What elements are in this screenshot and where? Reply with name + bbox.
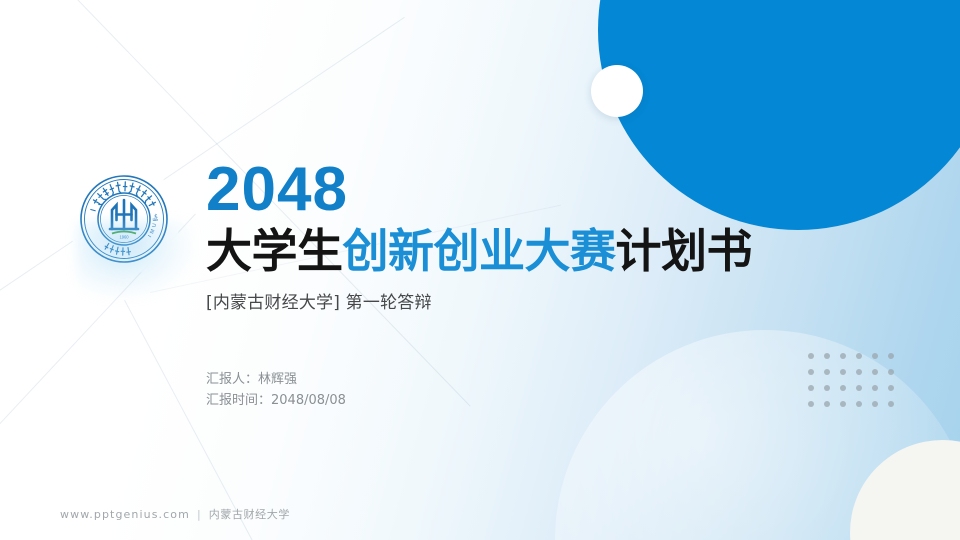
- footer: www.pptgenius.com | 内蒙古财经大学: [60, 506, 290, 522]
- year-heading: 2048: [206, 158, 886, 222]
- page-title: 大学生创新创业大赛计划书: [206, 224, 886, 278]
- grid-dot: [840, 385, 846, 391]
- svg-text:1960: 1960: [119, 235, 129, 240]
- title-part-2-highlight: 创新创业大赛: [343, 224, 616, 278]
- grid-dot: [888, 369, 894, 375]
- university-logo: 1960: [68, 163, 180, 275]
- dot-grid-decoration: [808, 353, 904, 417]
- subtitle: [内蒙古财经大学] 第一轮答辩: [206, 292, 886, 314]
- footer-organization: 内蒙古财经大学: [209, 506, 290, 522]
- grid-dot: [824, 385, 830, 391]
- grid-dot: [824, 353, 830, 359]
- title-slide: 1960: [0, 0, 960, 540]
- presenter-name: 汇报人：林辉强: [206, 369, 346, 390]
- grid-dot: [808, 385, 814, 391]
- grid-dot: [824, 401, 830, 407]
- grid-dot: [856, 385, 862, 391]
- footer-website[interactable]: www.pptgenius.com: [60, 508, 190, 521]
- grid-dot: [808, 369, 814, 375]
- grid-dot: [888, 353, 894, 359]
- university-seal-icon: 1960: [79, 174, 169, 264]
- headline-block: 2048 大学生创新创业大赛计划书 [内蒙古财经大学] 第一轮答辩: [206, 158, 886, 314]
- grid-dot: [888, 401, 894, 407]
- grid-dot: [840, 369, 846, 375]
- presentation-date: 汇报时间：2048/08/08: [206, 390, 346, 411]
- grid-dot: [808, 353, 814, 359]
- grid-dot: [856, 401, 862, 407]
- grid-dot: [872, 353, 878, 359]
- grid-dot: [872, 401, 878, 407]
- grid-dot: [872, 369, 878, 375]
- grid-dot: [808, 401, 814, 407]
- grid-dot: [840, 353, 846, 359]
- title-part-1: 大学生: [206, 224, 343, 278]
- title-part-3: 计划书: [616, 224, 753, 278]
- presentation-meta: 汇报人：林辉强 汇报时间：2048/08/08: [206, 369, 346, 411]
- grid-dot: [840, 401, 846, 407]
- small-white-circle-decoration: [591, 65, 643, 117]
- grid-dot: [824, 369, 830, 375]
- footer-separator: |: [197, 508, 202, 521]
- guide-line: [124, 300, 360, 540]
- grid-dot: [888, 385, 894, 391]
- grid-dot: [872, 385, 878, 391]
- grid-dot: [856, 369, 862, 375]
- grid-dot: [856, 353, 862, 359]
